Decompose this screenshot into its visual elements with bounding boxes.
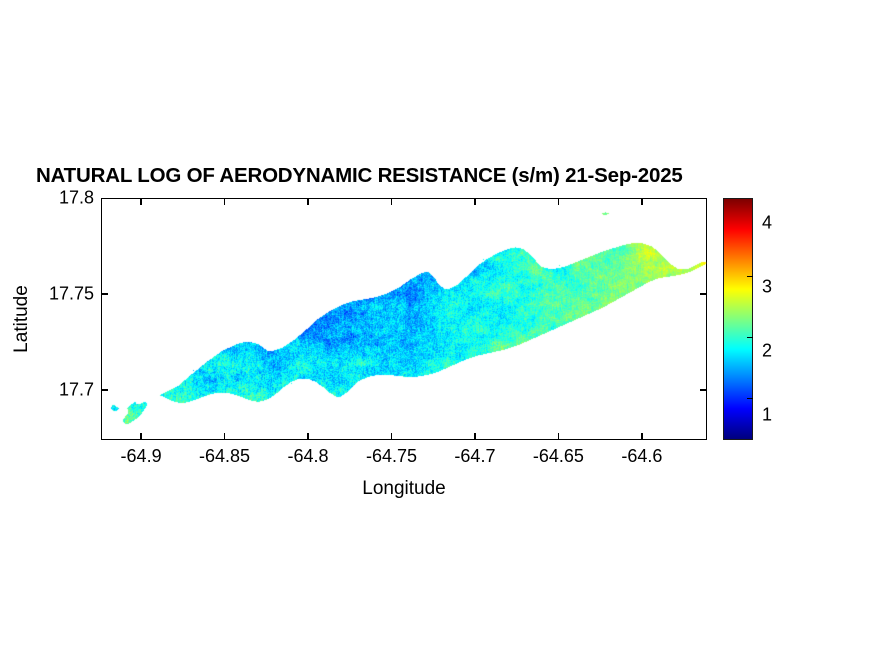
x-tick-label: -64.7 [454, 446, 495, 467]
x-tick-mark [641, 198, 642, 205]
page-title: NATURAL LOG OF AERODYNAMIC RESISTANCE (s… [36, 164, 683, 188]
y-tick-mark [700, 389, 707, 390]
y-tick-label: 17.8 [59, 188, 94, 209]
figure-canvas: NATURAL LOG OF AERODYNAMIC RESISTANCE (s… [0, 0, 875, 656]
x-tick-label: -64.6 [621, 446, 662, 467]
map-axes[interactable] [101, 198, 707, 440]
x-tick-mark [641, 433, 642, 440]
y-tick-mark [700, 293, 707, 294]
y-axis-label: Latitude [11, 285, 33, 353]
colorbar-tick-label: 3 [762, 277, 772, 298]
y-tick-label: 17.7 [59, 380, 94, 401]
x-tick-mark [307, 433, 308, 440]
x-tick-label: -64.65 [533, 446, 584, 467]
x-tick-mark [224, 433, 225, 440]
y-tick-mark [101, 293, 108, 294]
colorbar-tick-label: 4 [762, 213, 772, 234]
x-tick-mark [224, 198, 225, 205]
colorbar[interactable] [723, 198, 753, 440]
aerodynamic-resistance-raster [102, 199, 708, 441]
x-tick-label: -64.75 [366, 446, 417, 467]
x-tick-mark [391, 433, 392, 440]
colorbar-tick-2 [747, 398, 753, 399]
x-tick-mark [558, 433, 559, 440]
x-tick-mark [391, 198, 392, 205]
colorbar-tick-3 [747, 337, 753, 338]
x-tick-mark [474, 198, 475, 205]
x-tick-mark [307, 198, 308, 205]
x-axis-label: Longitude [362, 478, 445, 500]
x-tick-mark [558, 198, 559, 205]
y-tick-mark [101, 389, 108, 390]
x-tick-mark [140, 198, 141, 205]
y-tick-label: 17.75 [49, 284, 94, 305]
colorbar-tick-label: 1 [762, 404, 772, 425]
x-tick-mark [140, 433, 141, 440]
colorbar-gradient [724, 199, 752, 439]
colorbar-tick-4 [747, 276, 753, 277]
x-tick-mark [474, 433, 475, 440]
x-tick-label: -64.9 [121, 446, 162, 467]
x-tick-label: -64.85 [199, 446, 250, 467]
x-tick-label: -64.8 [287, 446, 328, 467]
colorbar-tick-label: 2 [762, 340, 772, 361]
